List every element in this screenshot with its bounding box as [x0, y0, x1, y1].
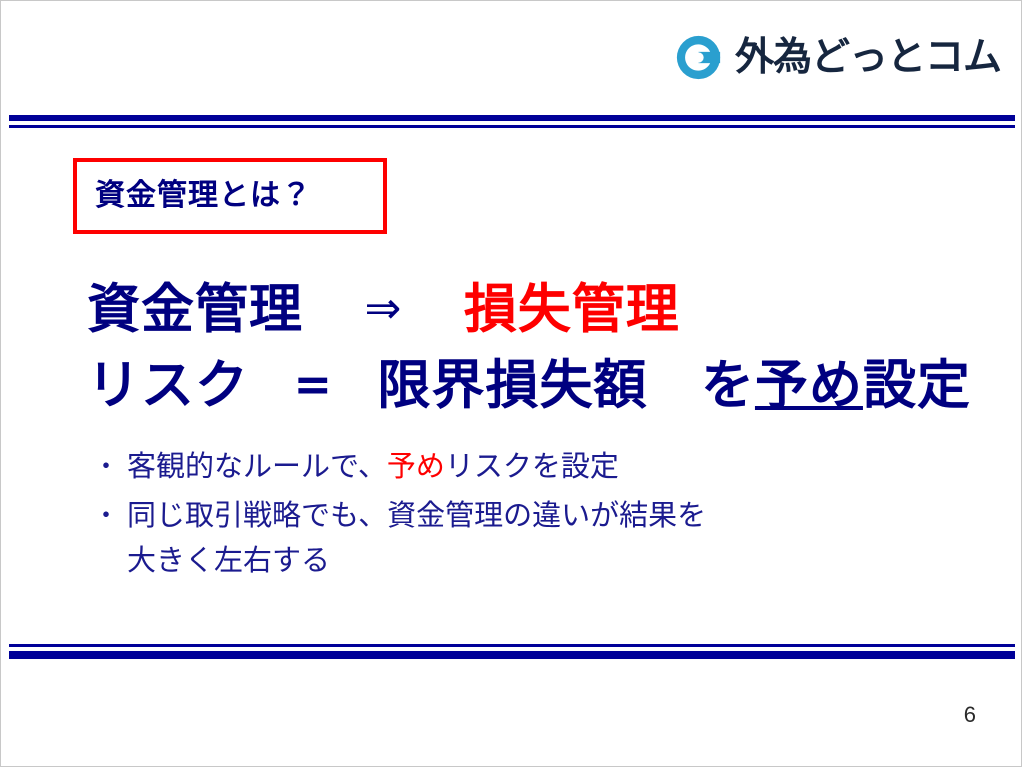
- headline-line-1: 資金管理 ⇒ 損失管理: [87, 283, 680, 336]
- section-title-box: 資金管理とは？: [73, 158, 387, 234]
- headline-line-2: リスク = 限界損失額 を予め設定: [87, 359, 971, 412]
- top-divider: [9, 115, 1015, 128]
- headline-2-part3-underlined: 予め: [755, 356, 863, 415]
- list-item: ・ 客観的なルールで、予めリスクを設定: [93, 445, 953, 490]
- headline-2-part1: リスク: [87, 356, 249, 415]
- headline-1-left: 資金管理: [87, 280, 303, 339]
- headline-2-part2: 限界損失額: [377, 356, 647, 415]
- headline-2-part3-pre: を: [701, 356, 755, 415]
- brand-logo-text: 外為どっとコム: [735, 38, 1001, 77]
- brand-logo: 外為どっとコム: [675, 34, 1001, 81]
- divider-bar-thick: [9, 651, 1015, 659]
- bottom-divider: [9, 644, 1015, 659]
- list-item-text: 同じ取引戦略でも、資金管理の違いが結果を 大きく左右する: [127, 494, 953, 584]
- double-arrow-right-icon: ⇒: [364, 283, 402, 334]
- divider-bar-thin: [9, 125, 1015, 128]
- presentation-slide: 外為どっとコム 資金管理とは？ 資金管理 ⇒ 損失管理 リスク = 限界損失額 …: [0, 0, 1022, 767]
- headline-1-right: 損失管理: [464, 280, 680, 339]
- slide-header: 外為どっとコム: [1, 1, 1022, 111]
- headline-2-part3-post: 設定: [863, 356, 971, 415]
- bullet-marker-icon: ・: [93, 445, 127, 487]
- page-number: 6: [964, 702, 976, 728]
- list-item: ・ 同じ取引戦略でも、資金管理の違いが結果を 大きく左右する: [93, 494, 953, 584]
- section-title-text: 資金管理とは？: [95, 181, 312, 211]
- bullet-marker-icon: ・: [93, 494, 127, 536]
- list-item-2-pre: 同じ取引戦略でも、資金管理の違いが結果を 大きく左右する: [127, 500, 706, 577]
- circular-g-logo-icon: [675, 34, 722, 81]
- list-item-1-post: リスクを設定: [445, 451, 619, 483]
- bullet-list: ・ 客観的なルールで、予めリスクを設定 ・ 同じ取引戦略でも、資金管理の違いが結…: [93, 445, 953, 588]
- list-item-text: 客観的なルールで、予めリスクを設定: [127, 445, 953, 490]
- list-item-1-emphasis: 予め: [387, 451, 445, 483]
- list-item-1-pre: 客観的なルールで、: [127, 451, 387, 483]
- equals-sign-icon: =: [293, 357, 333, 411]
